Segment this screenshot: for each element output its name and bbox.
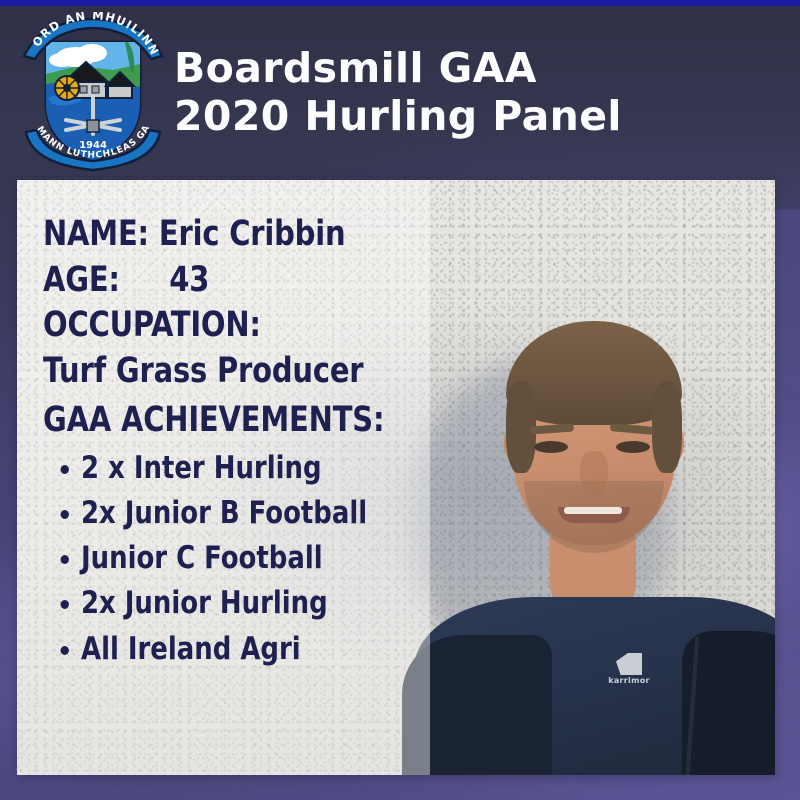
list-item: 2x Junior Hurling <box>81 581 418 626</box>
achievements-label: GAA ACHIEVEMENTS: <box>43 398 411 444</box>
title-line-1: Boardsmill GAA <box>174 44 622 92</box>
achievements-list: 2 x Inter Hurling 2x Junior B Football J… <box>43 446 443 672</box>
player-photo: karrimor <box>432 285 775 775</box>
profile-card: karrimor NAME: Eric Cribbin AGE: 43 OCCU… <box>17 180 775 775</box>
profile-details: NAME: Eric Cribbin AGE: 43 OCCUPATION: T… <box>43 212 443 672</box>
crest-year: 1944 <box>79 140 107 151</box>
age-line: AGE: 43 <box>43 258 411 304</box>
nose <box>580 451 608 497</box>
shirt-brand-logo: karrimor <box>600 653 658 691</box>
occupation-label: OCCUPATION: <box>43 303 411 349</box>
poster-title: Boardsmill GAA 2020 Hurling Panel <box>174 44 622 141</box>
club-crest: 1944 BORD AN MHUILINN CUMANN LUTHCHLEAS … <box>18 12 168 172</box>
shirt-brand-text: karrimor <box>600 676 658 685</box>
club-crest-icon: 1944 BORD AN MHUILINN CUMANN LUTHCHLEAS … <box>18 12 168 172</box>
list-item: Junior C Football <box>81 536 418 581</box>
occupation-value: Turf Grass Producer <box>43 349 411 395</box>
hair-side-right <box>652 381 682 473</box>
list-item: 2x Junior B Football <box>81 491 418 536</box>
teeth <box>564 507 622 514</box>
name-line: NAME: Eric Cribbin <box>43 212 411 258</box>
eye-left <box>534 441 568 453</box>
poster-header: 1944 BORD AN MHUILINN CUMANN LUTHCHLEAS … <box>0 6 800 178</box>
list-item: 2 x Inter Hurling <box>81 446 418 491</box>
title-line-2: 2020 Hurling Panel <box>174 92 622 140</box>
poster-canvas: 1944 BORD AN MHUILINN CUMANN LUTHCHLEAS … <box>0 0 800 800</box>
karrimor-mark-icon <box>616 653 642 675</box>
list-item: All Ireland Agri <box>81 627 418 672</box>
eye-right <box>616 441 650 453</box>
